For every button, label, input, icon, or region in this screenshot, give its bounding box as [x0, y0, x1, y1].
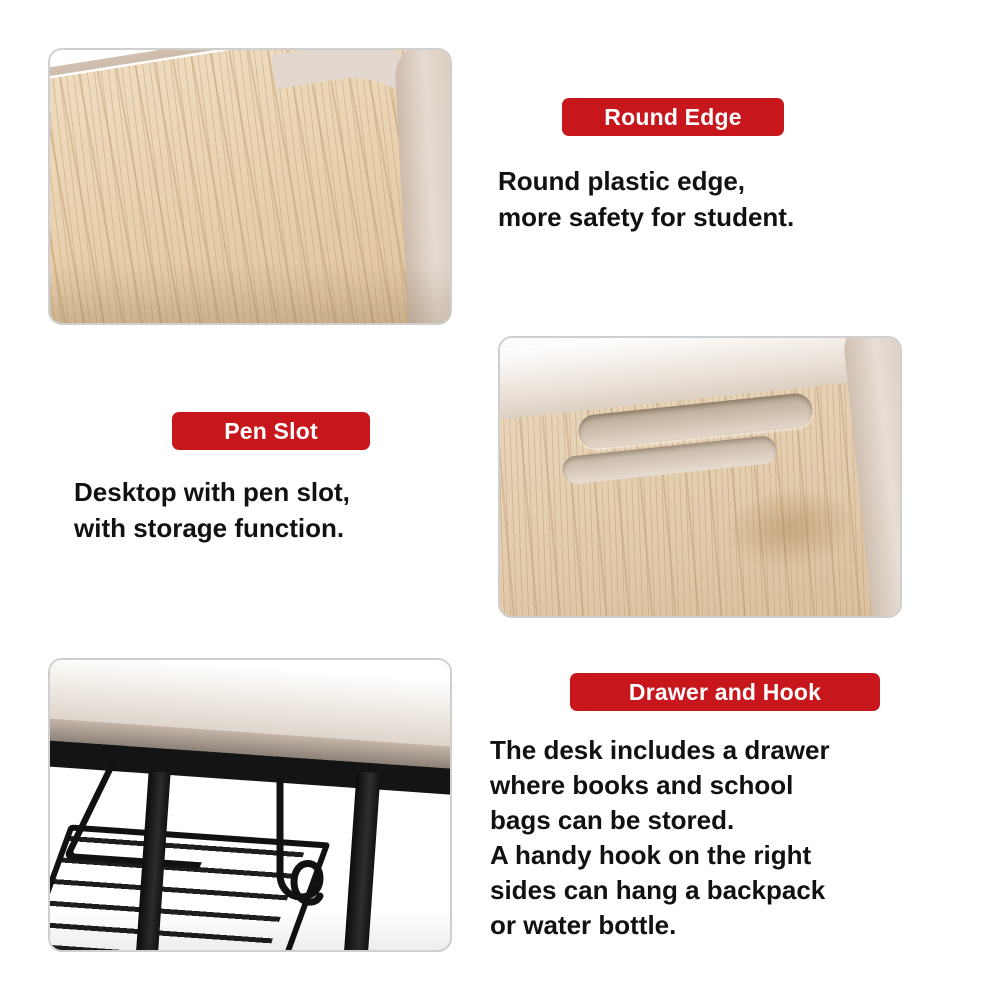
badge-round-edge: Round Edge [562, 98, 784, 136]
badge-label: Pen Slot [224, 418, 318, 445]
photo-pen-slot [498, 336, 902, 618]
badge-drawer-hook: Drawer and Hook [570, 673, 880, 711]
photo-shadow-gradient [50, 910, 450, 950]
photo-shadow-gradient [50, 263, 450, 323]
badge-pen-slot: Pen Slot [172, 412, 370, 450]
badge-label: Drawer and Hook [629, 679, 821, 706]
description-round-edge: Round plastic edge, more safety for stud… [498, 163, 938, 235]
photo-round-edge [48, 48, 452, 325]
photo-drawer-hook [48, 658, 452, 952]
description-pen-slot: Desktop with pen slot, with storage func… [74, 474, 494, 546]
infographic-page: Round Edge Round plastic edge, more safe… [0, 0, 1000, 1000]
badge-label: Round Edge [604, 104, 741, 131]
description-drawer-hook: The desk includes a drawer where books a… [490, 733, 960, 943]
